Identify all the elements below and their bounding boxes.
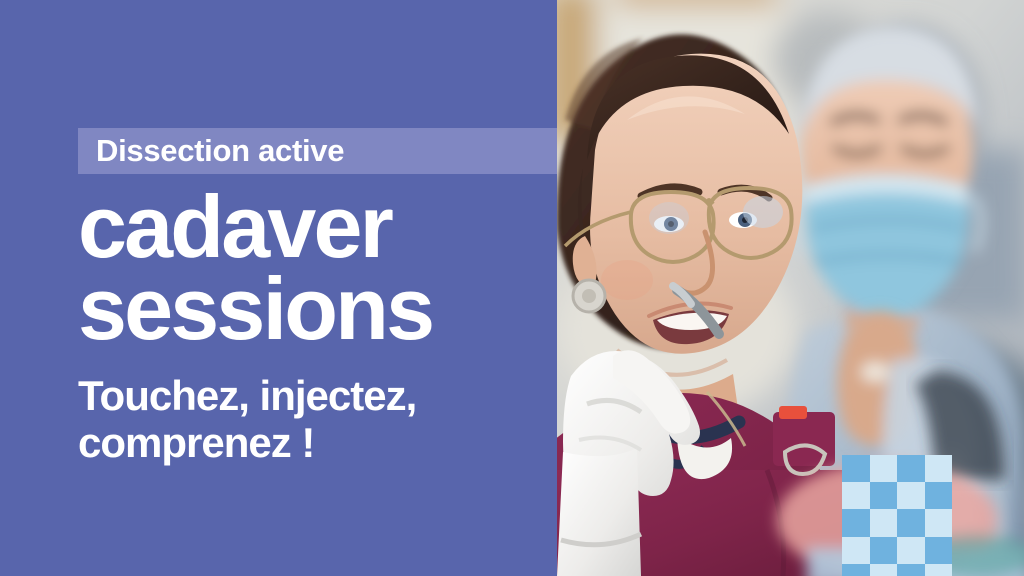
page-title: cadaver sessions — [78, 186, 548, 350]
checker-square — [925, 482, 953, 509]
eyebrow-label: Dissection active — [96, 131, 344, 171]
checker-square — [897, 564, 925, 576]
checker-square — [842, 455, 870, 482]
headline-line-2: sessions — [78, 268, 548, 350]
checker-square — [870, 509, 898, 536]
checker-square — [925, 564, 953, 576]
promo-slide: Dissection active cadaver sessions Touch… — [0, 0, 1024, 576]
checker-square — [925, 509, 953, 536]
checker-square — [842, 482, 870, 509]
subtitle: Touchez, injectez, comprenez ! — [78, 372, 538, 466]
subtitle-line-2: comprenez ! — [78, 419, 538, 466]
checkerboard-decoration — [842, 455, 952, 576]
checker-square — [897, 537, 925, 564]
checker-square — [925, 455, 953, 482]
checker-square — [870, 455, 898, 482]
checker-square — [897, 509, 925, 536]
hero-photo-illustration — [557, 0, 1024, 576]
checker-square — [842, 537, 870, 564]
checker-square — [870, 537, 898, 564]
left-text-panel: Dissection active cadaver sessions Touch… — [0, 0, 557, 576]
checker-square — [870, 482, 898, 509]
checker-square — [925, 537, 953, 564]
checker-square — [870, 564, 898, 576]
checker-square — [897, 482, 925, 509]
checker-square — [842, 564, 870, 576]
checker-square — [842, 509, 870, 536]
hero-photo — [557, 0, 1024, 576]
headline-line-1: cadaver — [78, 186, 548, 268]
subtitle-line-1: Touchez, injectez, — [78, 372, 538, 419]
checker-square — [897, 455, 925, 482]
